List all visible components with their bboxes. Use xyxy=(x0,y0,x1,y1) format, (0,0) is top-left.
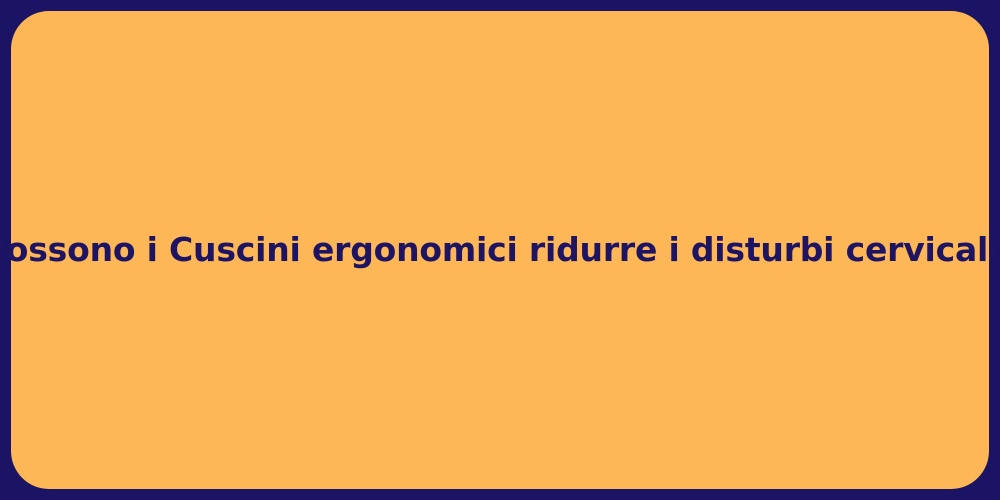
banner-heading: Possono i Cuscini ergonomici ridurre i d… xyxy=(0,229,1000,270)
banner-root: Possono i Cuscini ergonomici ridurre i d… xyxy=(0,0,1000,500)
banner-panel: Possono i Cuscini ergonomici ridurre i d… xyxy=(11,11,989,489)
